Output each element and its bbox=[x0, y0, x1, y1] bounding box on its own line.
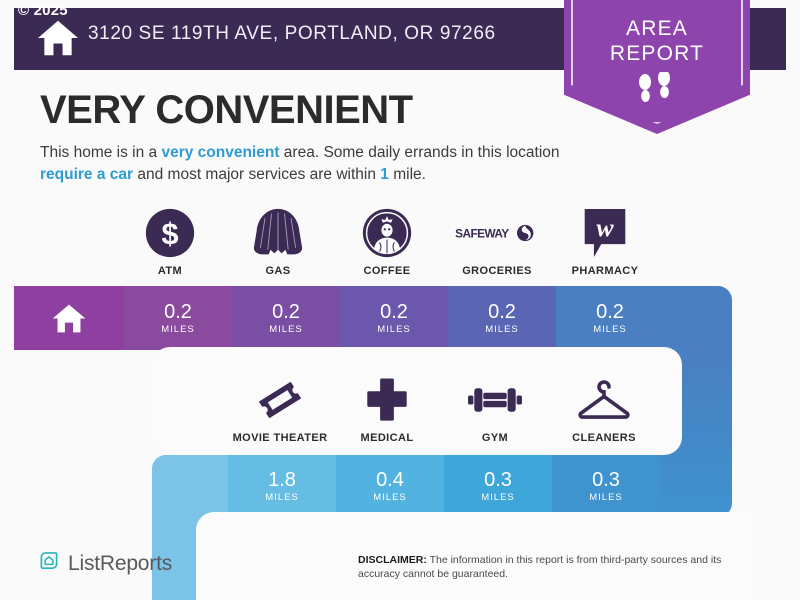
hanger-icon bbox=[558, 372, 650, 428]
distance-cell-atm: 0.2 MILES bbox=[124, 286, 232, 350]
category-movie-theater: MOVIE THEATER bbox=[232, 372, 328, 444]
disclaimer-label: DISCLAIMER: bbox=[358, 554, 427, 566]
disclaimer: DISCLAIMER: The information in this repo… bbox=[358, 553, 766, 581]
category-groceries: SAFEWAY GROCERIES bbox=[449, 205, 545, 277]
row2-lead-cell bbox=[152, 455, 228, 517]
category-gym: GYM bbox=[449, 372, 541, 444]
distance-cell-pharmacy: 0.2 MILES bbox=[556, 286, 664, 350]
footprints-icon bbox=[564, 72, 750, 111]
summary-part-3: and most major services are within bbox=[133, 166, 380, 183]
distance-cell-cleaners: 0.3 MILES bbox=[552, 455, 660, 517]
distance-unit: MILES bbox=[269, 324, 303, 335]
summary-highlight-1: very convenient bbox=[161, 144, 279, 161]
distance-unit: MILES bbox=[377, 324, 411, 335]
summary-highlight-2: require a car bbox=[40, 166, 133, 183]
distance-cell-groceries: 0.2 MILES bbox=[448, 286, 556, 350]
distance-bar-row1: 0.2 MILES 0.2 MILES 0.2 MILES 0.2 MILES … bbox=[14, 286, 732, 350]
distance-unit: MILES bbox=[485, 324, 519, 335]
walgreens-logo-icon: w bbox=[558, 205, 652, 261]
category-gas: GAS bbox=[232, 205, 324, 277]
category-medical: MEDICAL bbox=[341, 372, 433, 444]
category-cleaners: CLEANERS bbox=[558, 372, 650, 444]
summary-part-2: area. Some daily errands in this locatio… bbox=[280, 144, 560, 161]
distance-cell-coffee: 0.2 MILES bbox=[340, 286, 448, 350]
distance-value: 0.3 bbox=[592, 470, 620, 491]
starbucks-logo-icon bbox=[341, 205, 433, 261]
distance-cell-gym: 0.3 MILES bbox=[444, 455, 552, 517]
distance-unit: MILES bbox=[373, 492, 407, 503]
distance-unit: MILES bbox=[593, 324, 627, 335]
summary-text: This home is in a very convenient area. … bbox=[40, 142, 570, 186]
category-label: ATM bbox=[124, 265, 216, 277]
dollar-circle-icon: $ bbox=[124, 205, 216, 261]
distance-unit: MILES bbox=[161, 324, 195, 335]
category-atm: $ ATM bbox=[124, 205, 216, 277]
distance-unit: MILES bbox=[481, 492, 515, 503]
distance-cell-gas: 0.2 MILES bbox=[232, 286, 340, 350]
distance-value: 0.2 bbox=[488, 302, 516, 323]
category-label: GYM bbox=[449, 432, 541, 444]
distance-bar-row2: 1.8 MILES 0.4 MILES 0.3 MILES 0.3 MILES bbox=[152, 455, 732, 517]
distance-value: 0.3 bbox=[484, 470, 512, 491]
brand-name: ListReports bbox=[68, 552, 172, 576]
home-icon bbox=[51, 302, 87, 335]
svg-text:w: w bbox=[596, 213, 614, 242]
distance-value: 0.2 bbox=[596, 302, 624, 323]
safeway-logo-icon: SAFEWAY bbox=[449, 205, 545, 261]
svg-text:$: $ bbox=[161, 217, 178, 251]
listreports-logo-icon bbox=[38, 550, 60, 577]
page-title: VERY CONVENIENT bbox=[40, 88, 413, 133]
property-address: 3120 SE 119TH AVE, PORTLAND, OR 97266 bbox=[88, 23, 496, 45]
category-label: GROCERIES bbox=[449, 265, 545, 277]
category-label: MEDICAL bbox=[341, 432, 433, 444]
medical-cross-icon bbox=[341, 372, 433, 428]
dumbbell-icon bbox=[449, 372, 541, 428]
svg-text:SAFEWAY: SAFEWAY bbox=[455, 227, 509, 241]
distance-value: 1.8 bbox=[268, 470, 296, 491]
distance-value: 0.2 bbox=[380, 302, 408, 323]
distance-unit: MILES bbox=[265, 492, 299, 503]
category-coffee: COFFEE bbox=[341, 205, 433, 277]
distance-cell-medical: 0.4 MILES bbox=[336, 455, 444, 517]
distance-value: 0.2 bbox=[164, 302, 192, 323]
category-label: COFFEE bbox=[341, 265, 433, 277]
area-report-badge: AREA REPORT bbox=[564, 0, 750, 134]
summary-part-4: mile. bbox=[389, 166, 426, 183]
category-label: CLEANERS bbox=[558, 432, 650, 444]
badge-line-1: AREA bbox=[564, 16, 750, 41]
listreports-brand: ListReports bbox=[38, 550, 172, 577]
shell-logo-icon bbox=[232, 205, 324, 261]
badge-text: AREA REPORT bbox=[564, 16, 750, 66]
header-home-icon bbox=[36, 18, 80, 58]
category-label: MOVIE THEATER bbox=[232, 432, 328, 444]
distance-value: 0.4 bbox=[376, 470, 404, 491]
copyright-label: © 2025 bbox=[18, 2, 68, 19]
category-label: PHARMACY bbox=[558, 265, 652, 277]
summary-part-1: This home is in a bbox=[40, 144, 161, 161]
category-pharmacy: w PHARMACY bbox=[558, 205, 652, 277]
distance-value: 0.2 bbox=[272, 302, 300, 323]
category-label: GAS bbox=[232, 265, 324, 277]
ticket-icon bbox=[232, 372, 328, 428]
area-report-page: © 2025 3120 SE 119TH AVE, PORTLAND, OR 9… bbox=[0, 0, 800, 600]
badge-line-2: REPORT bbox=[564, 41, 750, 66]
home-origin-cell bbox=[14, 286, 124, 350]
distance-cell-movie-theater: 1.8 MILES bbox=[228, 455, 336, 517]
summary-highlight-3: 1 bbox=[380, 166, 389, 183]
distance-unit: MILES bbox=[589, 492, 623, 503]
